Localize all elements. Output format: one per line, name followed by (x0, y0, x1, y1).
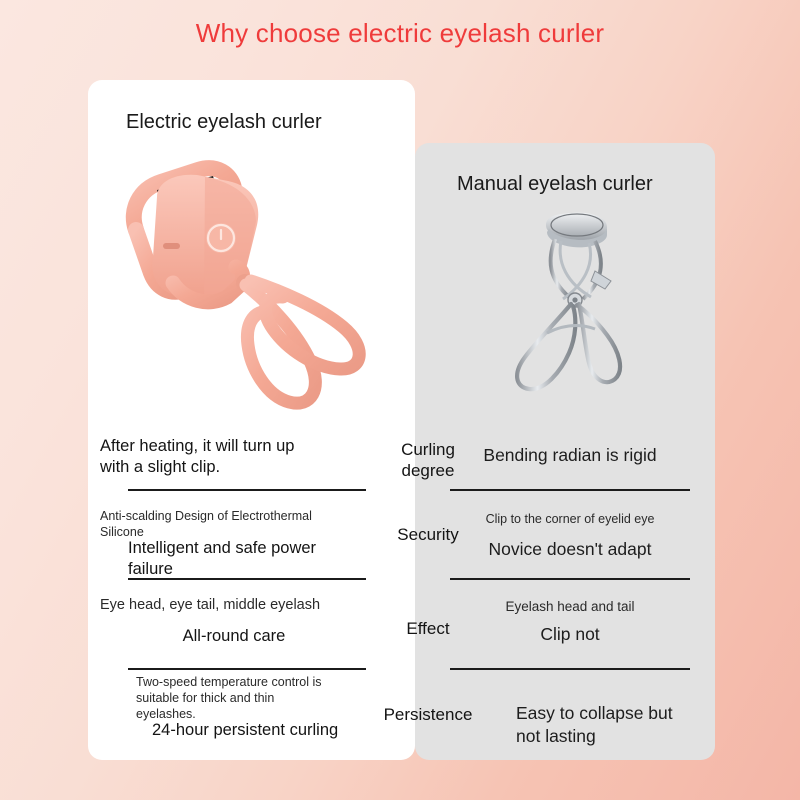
row-1-divider-left (128, 489, 366, 491)
row-1-right-main: Bending radian is rigid (440, 444, 700, 467)
comparison-table: After heating, it will turn up with a sl… (0, 0, 800, 800)
row-3-left-main: All-round care (100, 626, 368, 647)
row-2-divider-left (128, 578, 366, 580)
row-3-divider-left (128, 668, 366, 670)
row-4-label: Persistence (368, 700, 488, 730)
row-1-left-main: After heating, it will turn up with a sl… (100, 436, 368, 479)
row-3-right-sub: Eyelash head and tail (440, 598, 700, 615)
row-3-divider-right (450, 668, 690, 670)
row-3-left-sub: Eye head, eye tail, middle eyelash (100, 596, 400, 615)
row-2-left-sub: Anti-scalding Design of Electrothermal S… (100, 508, 390, 540)
row-1-divider-right (450, 489, 690, 491)
row-2-right-sub: Clip to the corner of eyelid eye (440, 511, 700, 527)
row-2-right-main: Novice doesn't adapt (440, 538, 700, 561)
row-4-right-main: Easy to collapse but not lasting (516, 702, 776, 748)
row-2-left-main: Intelligent and safe power failure (100, 538, 368, 581)
row-3-right-main: Clip not (440, 623, 700, 646)
row-2-divider-right (450, 578, 690, 580)
row-4-left-sub: Two-speed temperature control is suitabl… (136, 674, 366, 722)
